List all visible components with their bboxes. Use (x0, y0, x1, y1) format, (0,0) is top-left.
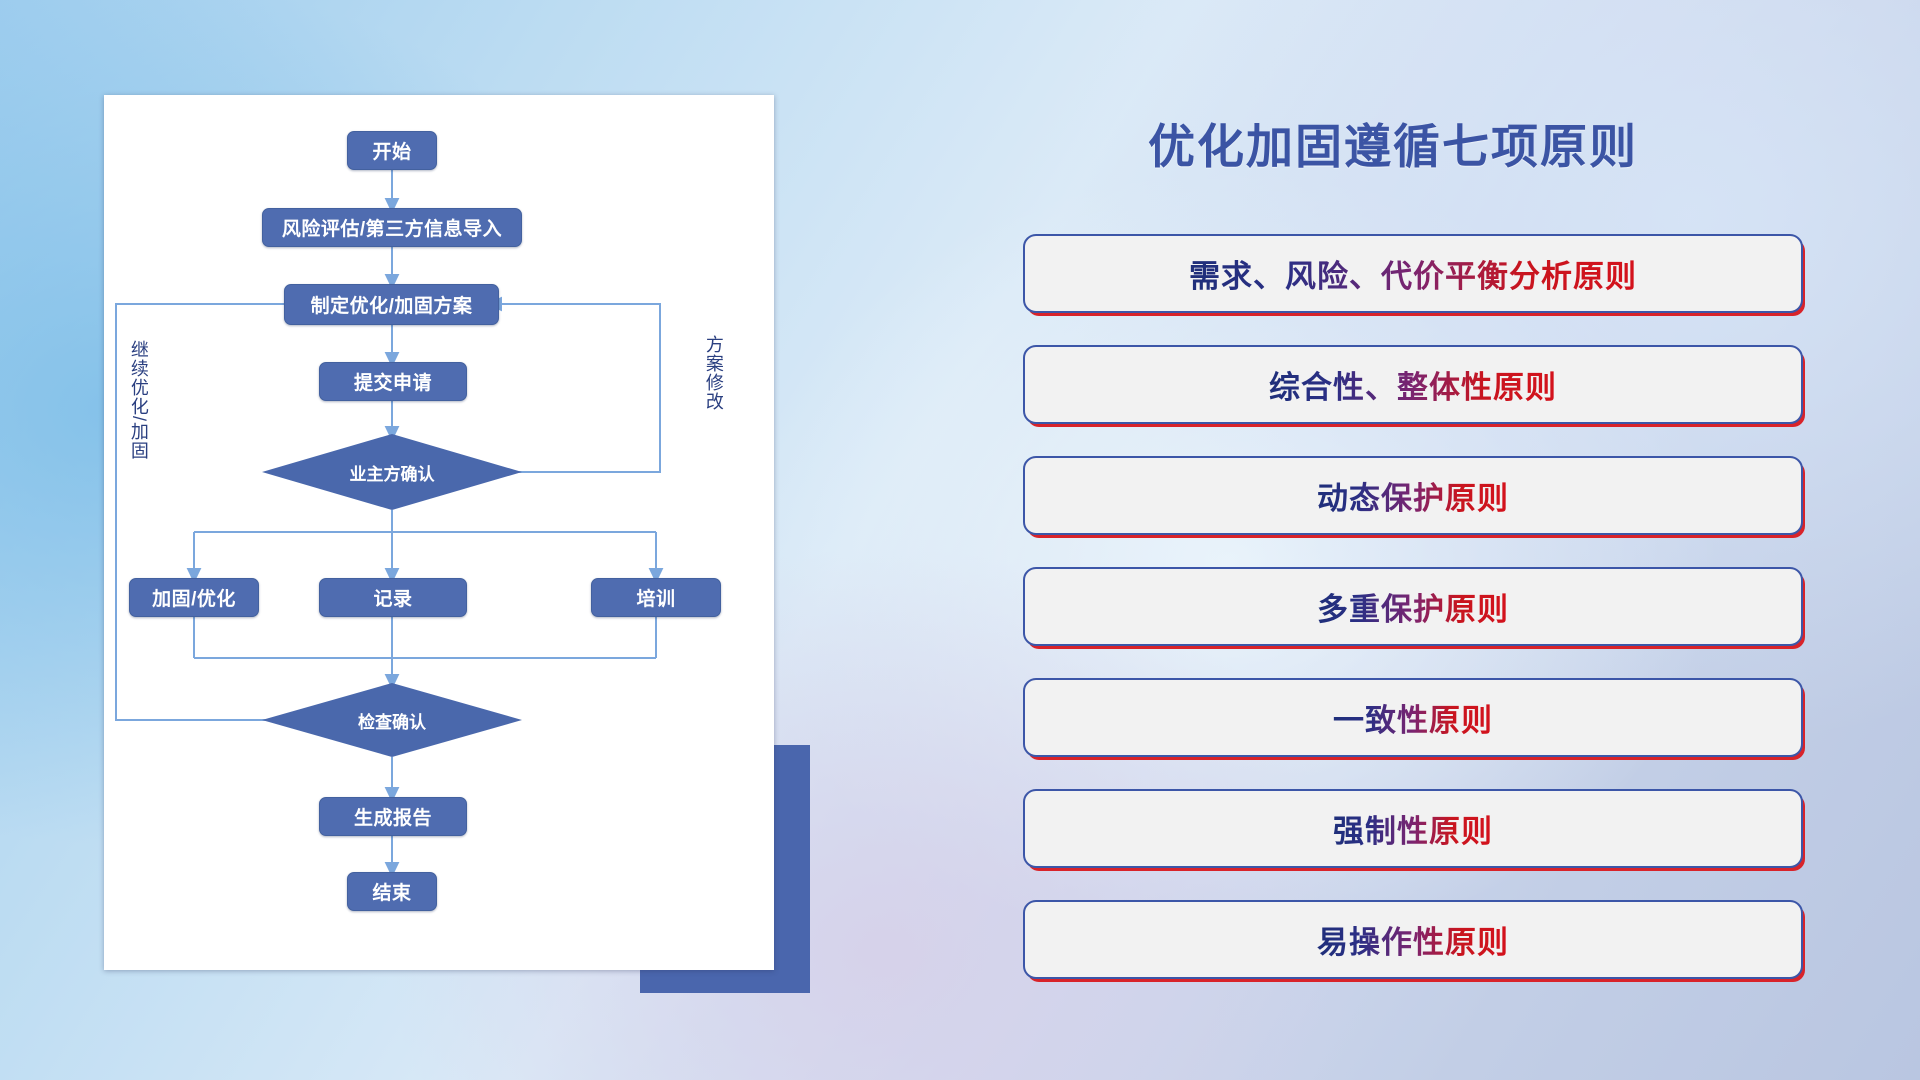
principles-title: 优化加固遵循七项原则 (1148, 108, 1638, 177)
flow-node-start[interactable]: 开始 (347, 131, 437, 170)
flow-node-label: 开始 (372, 137, 411, 164)
principle-item[interactable]: 综合性、整体性原则 (1023, 345, 1803, 424)
flow-node-label: 结束 (372, 878, 411, 905)
flowchart-card: 开始 风险评估/第三方信息导入 制定优化/加固方案 提交申请 业主方确认 加固/… (104, 95, 774, 970)
flow-node-label: 提交申请 (354, 368, 432, 395)
principle-item[interactable]: 易操作性原则 (1023, 900, 1803, 979)
principle-item[interactable]: 多重保护原则 (1023, 567, 1803, 646)
flow-node-label: 加固/优化 (152, 584, 236, 611)
principle-label: 易操作性原则 (1317, 917, 1509, 962)
flow-node-reinforce-optimize[interactable]: 加固/优化 (129, 578, 259, 617)
flow-node-end[interactable]: 结束 (347, 872, 437, 911)
principle-label: 动态保护原则 (1317, 473, 1509, 518)
flow-node-record[interactable]: 记录 (319, 578, 467, 617)
principle-label: 一致性原则 (1333, 695, 1493, 740)
slide-canvas: 开始 风险评估/第三方信息导入 制定优化/加固方案 提交申请 业主方确认 加固/… (0, 0, 1920, 1080)
principle-label: 需求、风险、代价平衡分析原则 (1189, 251, 1637, 296)
principle-label: 综合性、整体性原则 (1269, 362, 1557, 407)
flow-node-label: 风险评估/第三方信息导入 (282, 214, 502, 241)
flow-node-label: 生成报告 (354, 803, 432, 830)
flow-node-label: 记录 (373, 584, 412, 611)
principle-item[interactable]: 强制性原则 (1023, 789, 1803, 868)
flow-node-label: 检查确认 (358, 708, 426, 733)
flow-edge-label-left-loop: 继续优化/加固 (129, 340, 148, 460)
flowchart: 开始 风险评估/第三方信息导入 制定优化/加固方案 提交申请 业主方确认 加固/… (104, 95, 774, 970)
flow-node-label: 制定优化/加固方案 (311, 291, 473, 318)
flow-node-training[interactable]: 培训 (591, 578, 721, 617)
principle-item[interactable]: 需求、风险、代价平衡分析原则 (1023, 234, 1803, 313)
flow-node-generate-report[interactable]: 生成报告 (319, 797, 467, 836)
principle-item[interactable]: 动态保护原则 (1023, 456, 1803, 535)
flow-node-plan[interactable]: 制定优化/加固方案 (284, 284, 499, 325)
flow-node-label: 培训 (636, 584, 675, 611)
flow-node-submit-application[interactable]: 提交申请 (319, 362, 467, 401)
principle-item[interactable]: 一致性原则 (1023, 678, 1803, 757)
flow-node-risk-assessment[interactable]: 风险评估/第三方信息导入 (262, 208, 522, 247)
flow-node-label: 业主方确认 (350, 460, 435, 485)
flow-edge-label-right-loop: 方案修改 (704, 335, 723, 411)
principle-label: 强制性原则 (1333, 806, 1493, 851)
principle-label: 多重保护原则 (1317, 584, 1509, 629)
principles-list: 需求、风险、代价平衡分析原则 综合性、整体性原则 动态保护原则 多重保护原则 一… (1023, 234, 1803, 1011)
